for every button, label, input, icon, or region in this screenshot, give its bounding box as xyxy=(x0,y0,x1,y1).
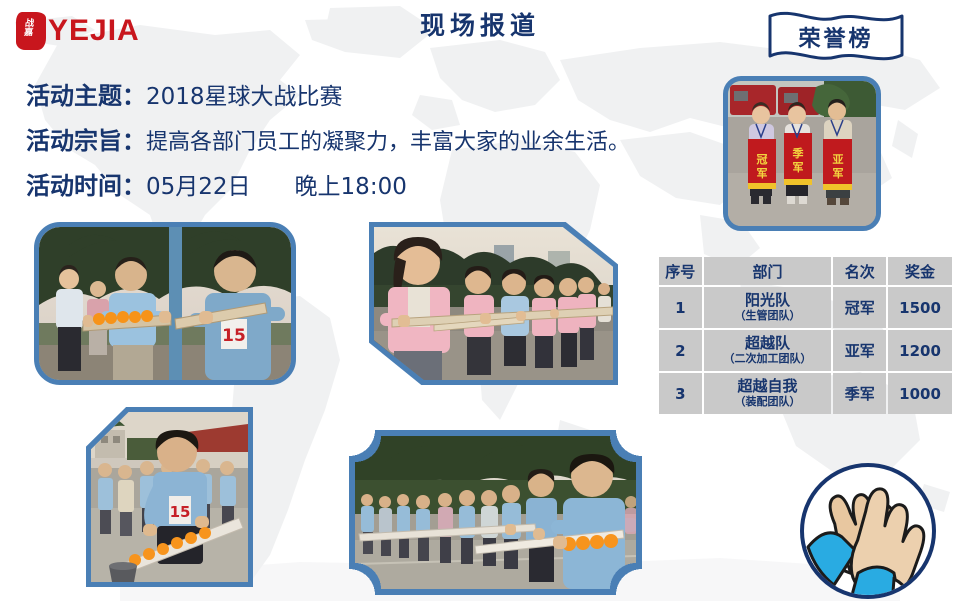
col-header-no: 序号 xyxy=(659,257,702,285)
cell-dept-sub: （二次加工团队） xyxy=(704,352,832,366)
svg-text:季: 季 xyxy=(792,146,805,160)
cell-prize: 1000 xyxy=(888,373,952,414)
event-photo-4[interactable] xyxy=(349,430,642,595)
event-photo-3[interactable]: 15 xyxy=(86,407,253,587)
event-photo-2[interactable] xyxy=(369,222,618,385)
results-table: 序号 部门 名次 奖金 1 阳光队 （生管团队） 冠军 1500 2 超越队 xyxy=(657,255,954,416)
event-photo-1[interactable]: 15 xyxy=(34,222,296,385)
time-label: 活动时间： xyxy=(26,172,146,200)
svg-text:冠: 冠 xyxy=(757,153,768,166)
svg-text:15: 15 xyxy=(170,503,191,521)
award-winners-photo[interactable]: 冠 军 季 军 xyxy=(723,76,881,231)
svg-text:15: 15 xyxy=(222,326,246,346)
cell-no: 2 xyxy=(659,330,702,371)
table-row: 3 超越自我 （装配团队） 季军 1000 xyxy=(659,373,952,414)
col-header-prize: 奖金 xyxy=(888,257,952,285)
cell-prize: 1500 xyxy=(888,287,952,328)
slide-canvas: 战 嘉 YEJIA 现场报道 活动主题：2018星球大战比赛 活动宗旨：提高各部… xyxy=(0,0,960,601)
cell-dept-main: 超越自我 xyxy=(704,378,832,395)
cell-no: 1 xyxy=(659,287,702,328)
table-row: 1 阳光队 （生管团队） 冠军 1500 xyxy=(659,287,952,328)
table-header-row: 序号 部门 名次 奖金 xyxy=(659,257,952,285)
theme-value: 2018星球大战比赛 xyxy=(146,84,343,110)
cell-prize: 1200 xyxy=(888,330,952,371)
cell-no: 3 xyxy=(659,373,702,414)
clapping-hands-icon xyxy=(798,461,938,601)
info-line-theme: 活动主题：2018星球大战比赛 xyxy=(26,76,343,111)
theme-label: 活动主题： xyxy=(26,82,146,110)
time-value-evening: 晚上18:00 xyxy=(295,174,407,200)
cell-dept-sub: （装配团队） xyxy=(704,395,832,409)
svg-text:亚: 亚 xyxy=(833,153,844,166)
cell-dept: 阳光队 （生管团队） xyxy=(704,287,832,328)
purpose-label: 活动宗旨： xyxy=(26,127,146,155)
table-row: 2 超越队 （二次加工团队） 亚军 1200 xyxy=(659,330,952,371)
svg-text:军: 军 xyxy=(793,161,804,174)
info-line-time: 活动时间：05月22日晚上18:00 xyxy=(26,166,407,201)
col-header-rank: 名次 xyxy=(833,257,886,285)
cell-rank: 冠军 xyxy=(833,287,886,328)
col-header-dept: 部门 xyxy=(704,257,832,285)
cell-rank: 季军 xyxy=(833,373,886,414)
honor-roll-label: 荣誉榜 xyxy=(762,21,910,53)
info-line-purpose: 活动宗旨：提高各部门员工的凝聚力，丰富大家的业余生活。 xyxy=(26,121,630,156)
cell-dept-main: 超越队 xyxy=(704,335,832,352)
purpose-value: 提高各部门员工的凝聚力，丰富大家的业余生活。 xyxy=(146,130,630,155)
cell-rank: 亚军 xyxy=(833,330,886,371)
cell-dept: 超越自我 （装配团队） xyxy=(704,373,832,414)
cell-dept-sub: （生管团队） xyxy=(704,309,832,323)
cell-dept-main: 阳光队 xyxy=(704,292,832,309)
svg-text:军: 军 xyxy=(757,167,768,180)
time-value: 05月22日 xyxy=(146,174,251,200)
honor-roll-banner: 荣誉榜 xyxy=(762,8,910,64)
cell-dept: 超越队 （二次加工团队） xyxy=(704,330,832,371)
svg-text:军: 军 xyxy=(833,167,844,180)
